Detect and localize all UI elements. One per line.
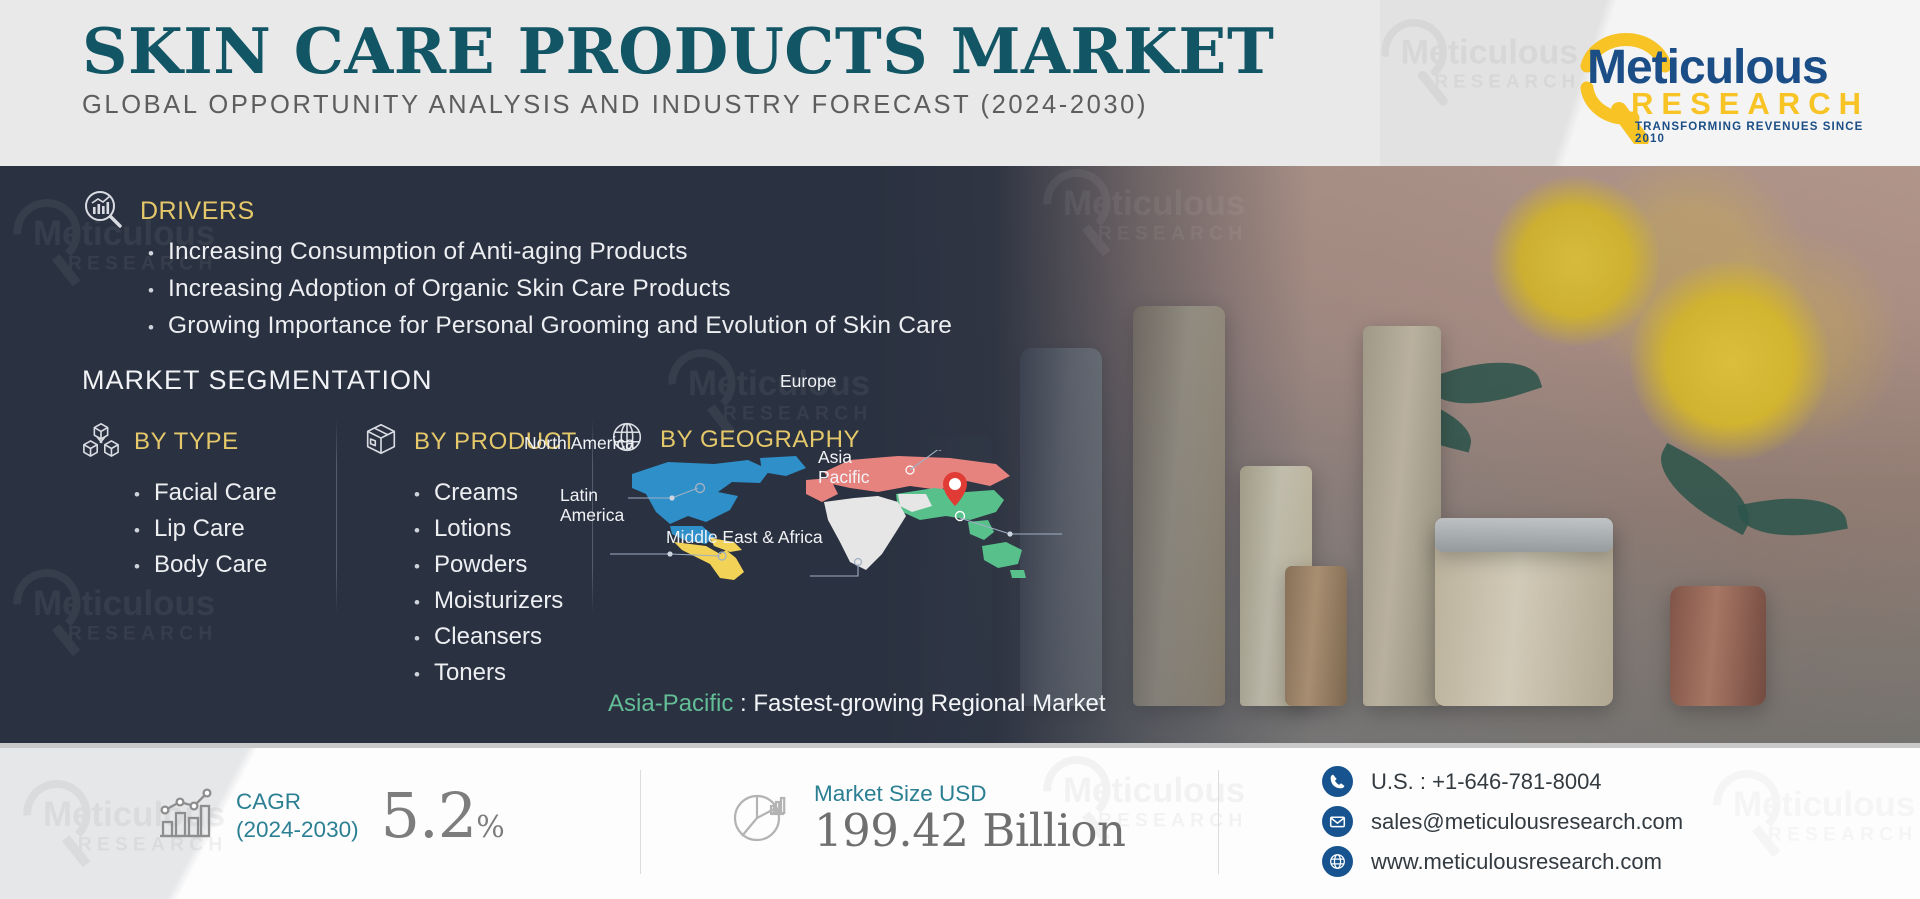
segment-item-text: Lip Care: [154, 515, 245, 543]
contact-block: U.S. : +1-646-781-8004 sales@meticulousr…: [1322, 766, 1683, 886]
svg-text:Meticulous: Meticulous: [33, 584, 215, 623]
list-item: •Powders: [414, 551, 577, 579]
segment-item-text: Creams: [434, 479, 518, 507]
bar-line-chart-icon: [152, 782, 214, 849]
market-size-text: Market Size USD 199.42 Billion: [814, 780, 1125, 855]
list-item: •Facial Care: [134, 479, 277, 507]
footer-top-strip: [0, 743, 1920, 748]
market-segmentation-title: MARKET SEGMENTATION: [82, 365, 433, 396]
segment-item-text: Toners: [434, 659, 506, 687]
segment-item-text: Body Care: [154, 551, 267, 579]
map-label-latin-america: Latin America: [560, 486, 624, 525]
cagr-value: 5.2%: [381, 785, 504, 847]
contact-email: sales@meticulousresearch.com: [1371, 809, 1683, 835]
email-icon: [1322, 806, 1353, 837]
list-item: •Lip Care: [134, 515, 277, 543]
page-subtitle: GLOBAL OPPORTUNITY ANALYSIS AND INDUSTRY…: [82, 91, 1352, 120]
cubes-icon: [82, 420, 120, 463]
segment-title: BY TYPE: [134, 428, 239, 456]
stat-market-size: Market Size USD 199.42 Billion: [730, 780, 1125, 855]
svg-text:Meticulous: Meticulous: [1733, 785, 1915, 824]
cagr-label-line1: CAGR: [236, 789, 301, 814]
segment-items: •Facial Care •Lip Care •Body Care: [134, 479, 277, 579]
market-size-value: 199.42 Billion: [814, 804, 1125, 857]
map-label-europe: Europe: [780, 372, 836, 392]
driver-text: Growing Importance for Personal Grooming…: [168, 312, 952, 340]
list-item: •Creams: [414, 479, 577, 507]
bullet-icon: •: [414, 630, 420, 647]
segment-item-text: Moisturizers: [434, 587, 563, 615]
list-item: •Moisturizers: [414, 587, 577, 615]
footer-divider: [1218, 770, 1219, 874]
caption-rest: : Fastest-growing Regional Market: [733, 690, 1105, 717]
bullet-icon: •: [134, 558, 140, 575]
list-item: •Toners: [414, 659, 577, 687]
bullet-icon: •: [414, 486, 420, 503]
drivers-list: • Increasing Consumption of Anti-aging P…: [148, 238, 952, 349]
market-size-label: Market Size USD: [814, 781, 987, 806]
bullet-icon: •: [134, 486, 140, 503]
drivers-header: DRIVERS: [82, 188, 255, 235]
list-item: • Increasing Adoption of Organic Skin Ca…: [148, 275, 952, 303]
contact-phone: U.S. : +1-646-781-8004: [1371, 769, 1602, 795]
cagr-label-line2: (2024-2030): [236, 817, 359, 842]
map-label-asia-pacific: Asia Pacific: [818, 448, 870, 487]
footer-divider: [640, 770, 641, 874]
cagr-label: CAGR (2024-2030): [236, 788, 359, 843]
bullet-icon: •: [414, 558, 420, 575]
segment-item-text: Lotions: [434, 515, 511, 543]
fastest-growing-caption: Asia-Pacific : Fastest-growing Regional …: [608, 690, 1106, 718]
list-item: • Growing Importance for Personal Groomi…: [148, 312, 952, 340]
driver-text: Increasing Adoption of Organic Skin Care…: [168, 275, 731, 303]
cagr-number: 5.2: [381, 779, 477, 852]
box-icon: [362, 420, 400, 463]
logo-word: RESEARCH: [1631, 86, 1869, 122]
brand-logo[interactable]: Meticulous RESEARCH TRANSFORMING REVENUE…: [1545, 22, 1875, 144]
title-block: SKIN CARE PRODUCTS MARKET GLOBAL OPPORTU…: [82, 18, 1352, 120]
svg-text:RESEARCH: RESEARCH: [68, 623, 218, 644]
watermark: Meticulous RESEARCH: [1700, 767, 1920, 868]
magnifier-chart-icon: [82, 188, 124, 235]
segment-items: •Creams •Lotions •Powders •Moisturizers …: [414, 479, 577, 687]
bullet-icon: •: [414, 594, 420, 611]
segment-column-by-product: BY PRODUCT •Creams •Lotions •Powders •Mo…: [362, 420, 577, 695]
svg-text:RESEARCH: RESEARCH: [1768, 824, 1918, 845]
bullet-icon: •: [414, 522, 420, 539]
stat-cagr: CAGR (2024-2030) 5.2%: [152, 782, 504, 849]
globe-icon: [1322, 846, 1353, 877]
bullet-icon: •: [148, 319, 154, 336]
logo-tagline: TRANSFORMING REVENUES SINCE 2010: [1635, 121, 1875, 145]
drivers-title: DRIVERS: [140, 197, 255, 226]
list-item: •Cleansers: [414, 623, 577, 651]
header: Meticulous RESEARCH SKIN CARE PRODUCTS M…: [0, 0, 1920, 166]
list-item: • Increasing Consumption of Anti-aging P…: [148, 238, 952, 266]
phone-icon: [1322, 766, 1353, 797]
pie-bar-chart-icon: [730, 784, 792, 851]
segment-column-by-type: BY TYPE •Facial Care •Lip Care •Body Car…: [82, 420, 277, 587]
bullet-icon: •: [134, 522, 140, 539]
segment-item-text: Cleansers: [434, 623, 542, 651]
list-item: •Body Care: [134, 551, 277, 579]
segment-item-text: Powders: [434, 551, 527, 579]
contact-row-phone[interactable]: U.S. : +1-646-781-8004: [1322, 766, 1683, 797]
contact-row-email[interactable]: sales@meticulousresearch.com: [1322, 806, 1683, 837]
contact-row-website[interactable]: www.meticulousresearch.com: [1322, 846, 1683, 877]
bullet-icon: •: [148, 245, 154, 262]
map-region-middle-east-africa: [824, 494, 932, 570]
infographic-root: Meticulous RESEARCH SKIN CARE PRODUCTS M…: [0, 0, 1920, 899]
page-title: SKIN CARE PRODUCTS MARKET: [82, 18, 1352, 84]
map-label-north-america: North America: [524, 434, 635, 454]
driver-text: Increasing Consumption of Anti-aging Pro…: [168, 238, 688, 266]
caption-highlight: Asia-Pacific: [608, 690, 733, 717]
bullet-icon: •: [414, 666, 420, 683]
segment-item-text: Facial Care: [154, 479, 277, 507]
list-item: •Lotions: [414, 515, 577, 543]
cagr-unit: %: [476, 810, 504, 845]
map-label-middle-east-africa: Middle East & Africa: [666, 528, 823, 548]
column-divider: [336, 418, 337, 614]
bullet-icon: •: [148, 282, 154, 299]
contact-website: www.meticulousresearch.com: [1371, 849, 1662, 875]
world-map: North America Latin America Europe Asia …: [610, 450, 1090, 580]
